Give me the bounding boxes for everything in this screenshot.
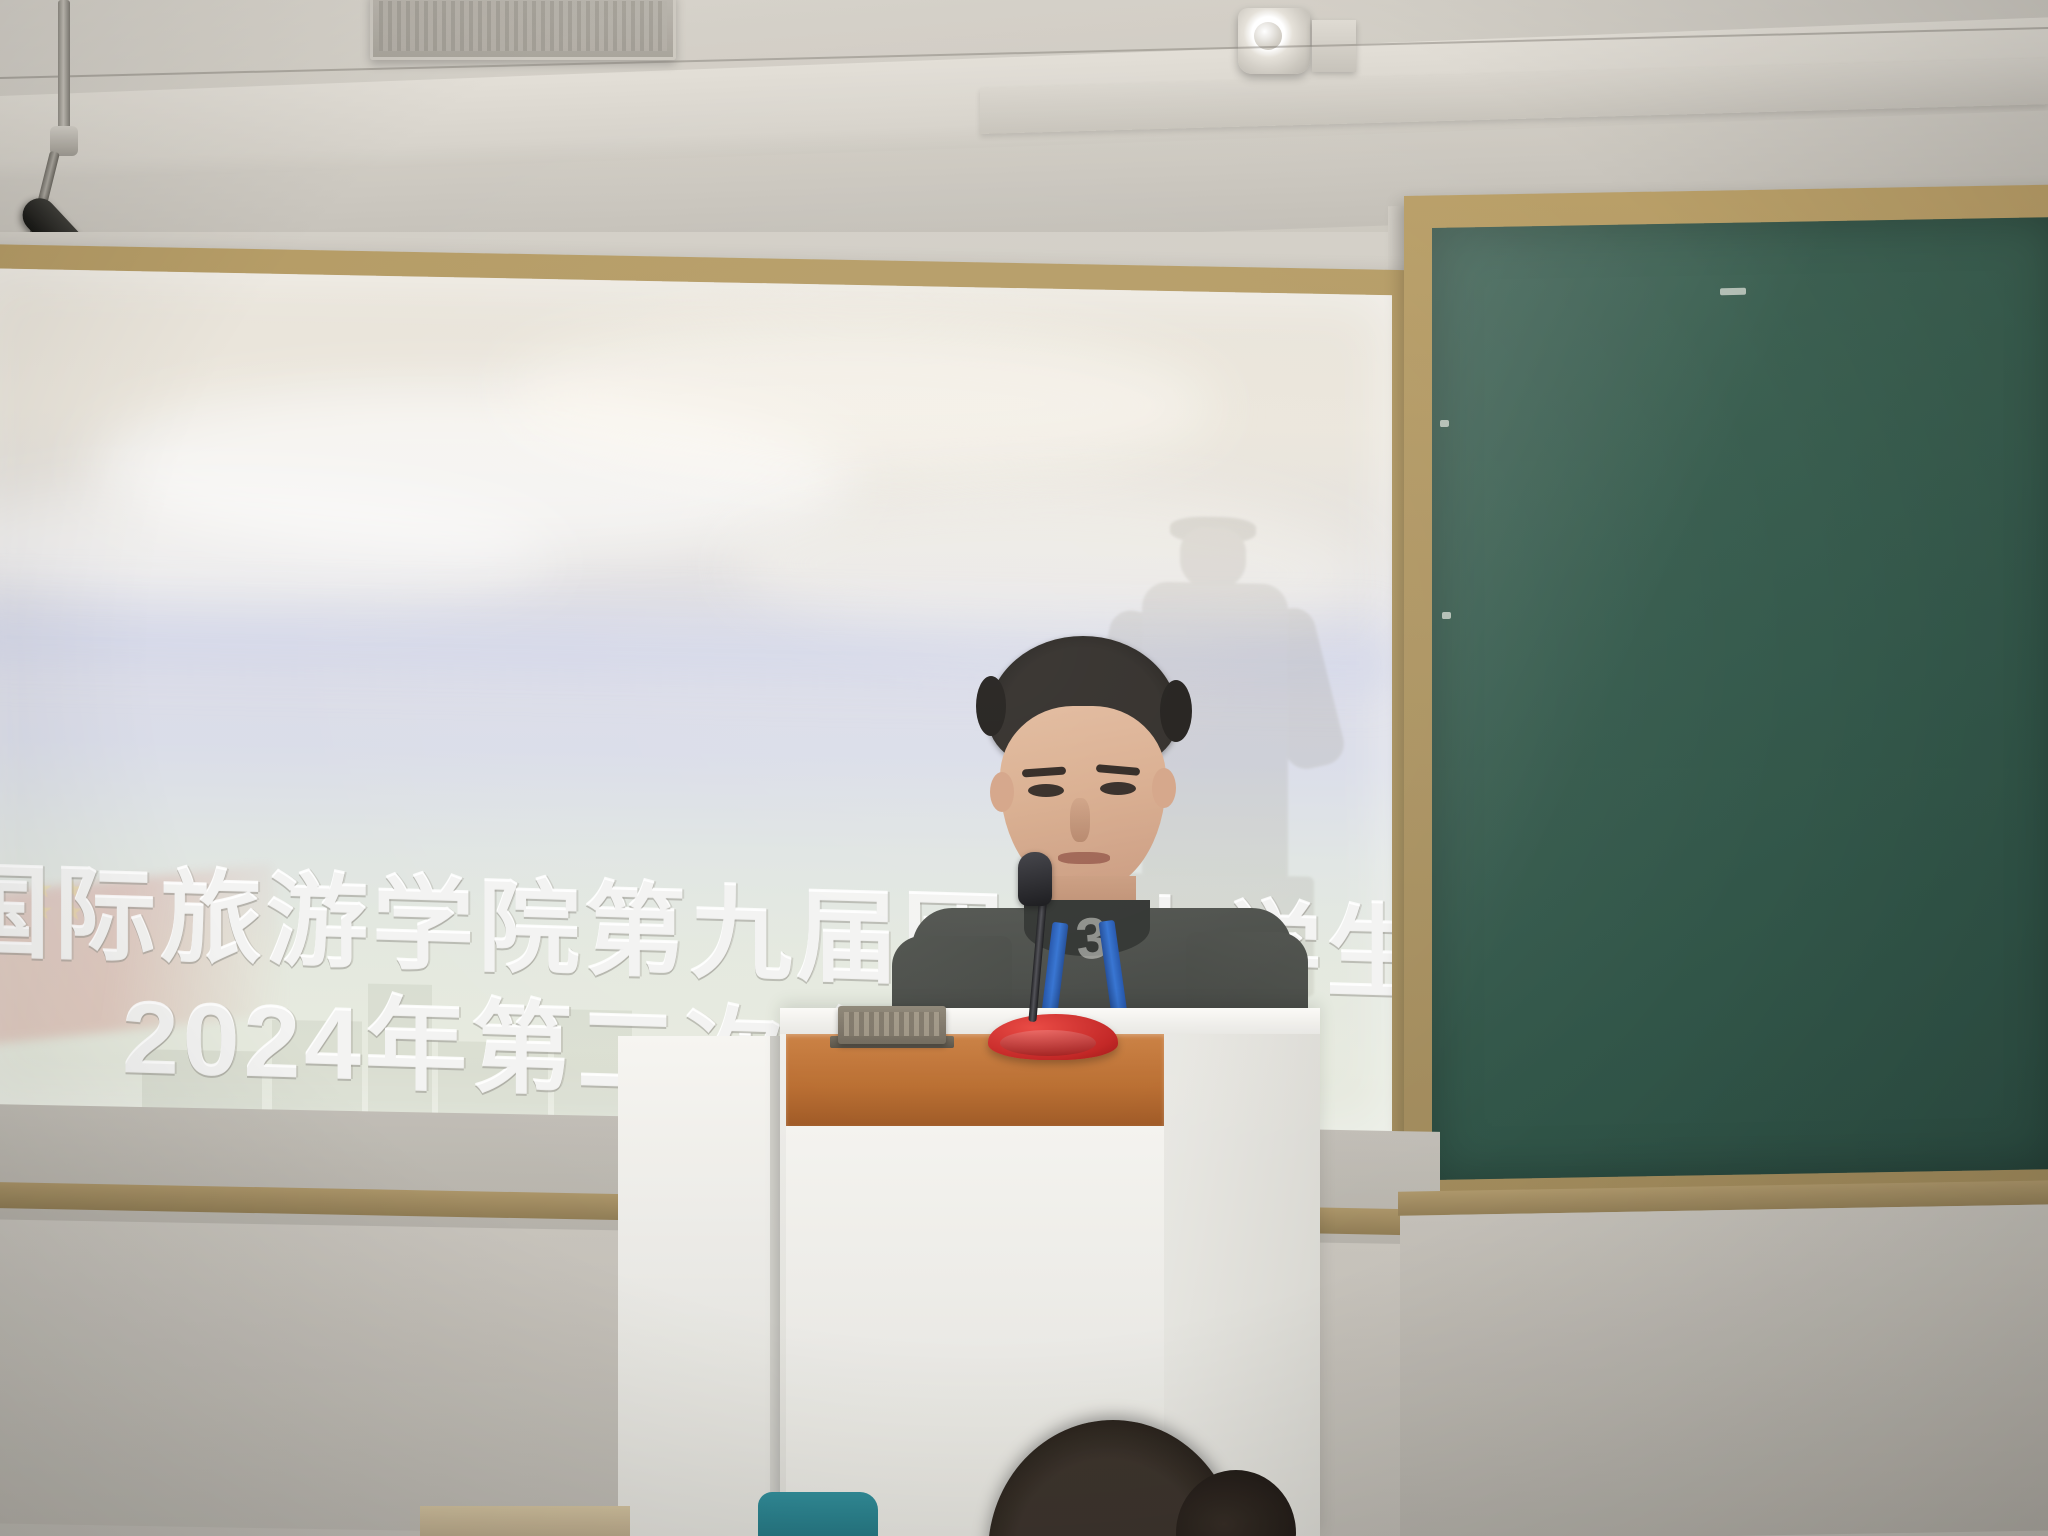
ear-right (1152, 768, 1176, 808)
photo-scene: ★ ★★ ★ 国际旅游学院第九届团总支学生会 2024年第二次全体例会 2024… (0, 0, 2048, 1536)
ceiling-speaker (1238, 8, 1310, 74)
foreground-object (758, 1492, 878, 1536)
classroom-desk (420, 1506, 630, 1536)
podium-side-block (618, 1036, 786, 1536)
right-lower-wall (1400, 1204, 2048, 1536)
desk-ornament (838, 1006, 946, 1044)
podium-microphone (1008, 852, 1068, 1022)
blackboard[interactable] (1432, 217, 2048, 1180)
eye-right (1100, 782, 1136, 795)
ear-left (990, 772, 1014, 812)
microphone-boom-rod (58, 0, 70, 132)
nose (1070, 798, 1090, 842)
blackboard-clip (1440, 420, 1449, 427)
eye-left (1028, 784, 1064, 797)
blackboard-clip (1720, 288, 1746, 295)
ceiling-air-vent (370, 0, 676, 60)
speaker-person: 3 (900, 636, 1300, 1066)
blackboard-clip (1442, 612, 1451, 619)
